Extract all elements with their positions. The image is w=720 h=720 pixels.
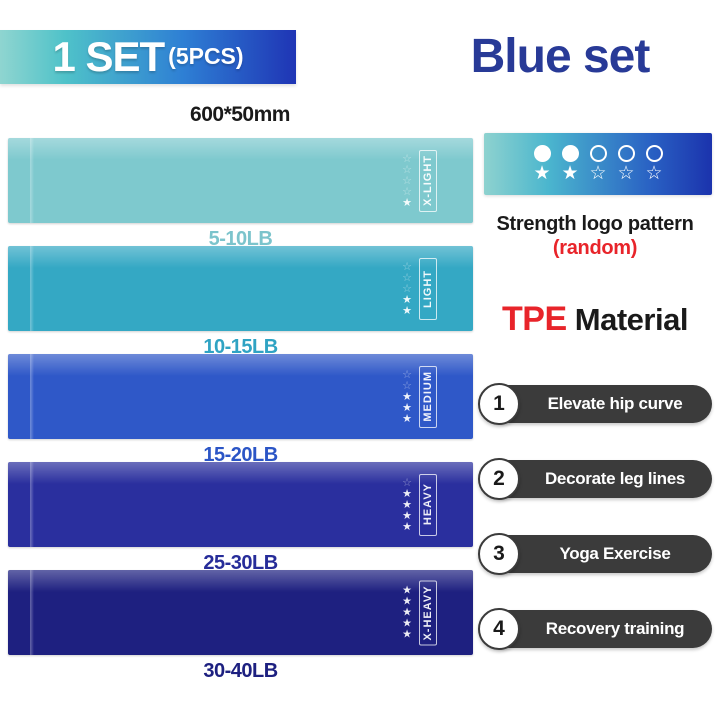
material-name: TPE	[502, 300, 567, 338]
band-star-rating: ☆★★★★	[402, 478, 412, 532]
band-level-label: LIGHT	[422, 270, 434, 308]
star-empty-icon: ☆	[402, 478, 412, 488]
benefit-item: Elevate hip curve1	[484, 385, 712, 423]
resistance-band: ★★★★★X-HEAVY	[8, 570, 473, 655]
star-filled-icon: ★	[402, 500, 412, 510]
star-empty-icon: ☆	[618, 164, 635, 183]
band-star-rating: ☆☆☆★★	[402, 262, 412, 316]
star-empty-icon: ☆	[402, 262, 412, 272]
dimension-label: 600*50mm	[40, 103, 440, 127]
star-empty-icon: ☆	[402, 176, 412, 186]
band-row: ☆☆☆☆★X-LIGHT5-10LB	[8, 138, 473, 251]
band-level-box: LIGHT	[419, 258, 437, 320]
star-filled-icon: ★	[402, 522, 412, 532]
band-row: ☆☆★★★MEDIUM15-20LB	[8, 354, 473, 467]
star-empty-icon: ☆	[402, 165, 412, 175]
star-filled-icon: ★	[402, 630, 412, 640]
band-row: ★★★★★X-HEAVY30-40LB	[8, 570, 473, 683]
band-level-box: X-HEAVY	[419, 580, 437, 645]
star-filled-icon: ★	[534, 164, 551, 183]
star-filled-icon: ★	[402, 414, 412, 424]
band-star-rating: ☆☆☆☆★	[402, 154, 412, 208]
set-count-main-label: 1 SET	[52, 36, 164, 78]
set-count-pieces-label: (5PCS)	[168, 45, 243, 70]
star-filled-icon: ★	[402, 295, 412, 305]
band-marking: ☆☆★★★MEDIUM	[402, 366, 437, 428]
strength-star-row: ★★☆☆☆	[534, 164, 663, 183]
resistance-band: ☆☆★★★MEDIUM	[8, 354, 473, 439]
star-filled-icon: ★	[402, 511, 412, 521]
strength-pattern-box: ★★☆☆☆	[484, 133, 712, 195]
benefit-number-badge: 2	[478, 458, 520, 500]
benefit-number-badge: 3	[478, 533, 520, 575]
star-empty-icon: ☆	[646, 164, 663, 183]
benefit-label: Elevate hip curve	[548, 394, 683, 414]
star-empty-icon: ☆	[402, 273, 412, 283]
benefit-item: Yoga Exercise3	[484, 535, 712, 573]
circle-empty-icon	[646, 145, 663, 162]
strength-caption-note: (random)	[470, 237, 720, 260]
star-filled-icon: ★	[402, 403, 412, 413]
band-level-label: X-LIGHT	[422, 155, 434, 206]
material-line: TPE Material	[470, 300, 720, 339]
benefit-label: Decorate leg lines	[545, 469, 685, 489]
star-filled-icon: ★	[402, 306, 412, 316]
strength-caption-text: Strength logo pattern	[496, 213, 693, 235]
band-marking: ★★★★★X-HEAVY	[402, 580, 437, 645]
star-filled-icon: ★	[402, 392, 412, 402]
band-star-rating: ★★★★★	[402, 586, 412, 640]
benefit-label: Yoga Exercise	[559, 544, 670, 564]
star-empty-icon: ☆	[402, 381, 412, 391]
band-level-box: MEDIUM	[419, 366, 437, 428]
circle-filled-icon	[534, 145, 551, 162]
star-filled-icon: ★	[402, 608, 412, 618]
benefit-item: Decorate leg lines2	[484, 460, 712, 498]
band-level-label: X-HEAVY	[422, 585, 434, 640]
star-filled-icon: ★	[402, 597, 412, 607]
circle-filled-icon	[562, 145, 579, 162]
band-marking: ☆☆☆☆★X-LIGHT	[402, 150, 437, 212]
star-filled-icon: ★	[562, 164, 579, 183]
band-level-box: X-LIGHT	[419, 150, 437, 212]
material-suffix: Material	[575, 302, 688, 337]
star-empty-icon: ☆	[402, 284, 412, 294]
star-filled-icon: ★	[402, 586, 412, 596]
band-level-label: MEDIUM	[422, 371, 434, 422]
star-empty-icon: ☆	[402, 154, 412, 164]
band-level-box: HEAVY	[419, 474, 437, 536]
benefit-number-badge: 1	[478, 383, 520, 425]
star-empty-icon: ☆	[402, 370, 412, 380]
star-filled-icon: ★	[402, 198, 412, 208]
resistance-band: ☆★★★★HEAVY	[8, 462, 473, 547]
band-star-rating: ☆☆★★★	[402, 370, 412, 424]
band-marking: ☆★★★★HEAVY	[402, 474, 437, 536]
product-title: Blue set	[400, 30, 720, 84]
band-row: ☆★★★★HEAVY25-30LB	[8, 462, 473, 575]
star-filled-icon: ★	[402, 489, 412, 499]
star-empty-icon: ☆	[402, 187, 412, 197]
star-filled-icon: ★	[402, 619, 412, 629]
set-count-banner: 1 SET (5PCS)	[0, 30, 296, 84]
circle-empty-icon	[590, 145, 607, 162]
circle-empty-icon	[618, 145, 635, 162]
strength-caption: Strength logo pattern (random)	[470, 213, 720, 260]
benefit-number-badge: 4	[478, 608, 520, 650]
band-level-label: HEAVY	[422, 483, 434, 525]
strength-dot-row	[534, 145, 663, 162]
band-row: ☆☆☆★★LIGHT10-15LB	[8, 246, 473, 359]
band-weight-label: 30-40LB	[8, 660, 473, 683]
benefit-label: Recovery training	[546, 619, 685, 639]
resistance-band: ☆☆☆☆★X-LIGHT	[8, 138, 473, 223]
band-marking: ☆☆☆★★LIGHT	[402, 258, 437, 320]
resistance-band: ☆☆☆★★LIGHT	[8, 246, 473, 331]
benefit-item: Recovery training4	[484, 610, 712, 648]
star-empty-icon: ☆	[590, 164, 607, 183]
